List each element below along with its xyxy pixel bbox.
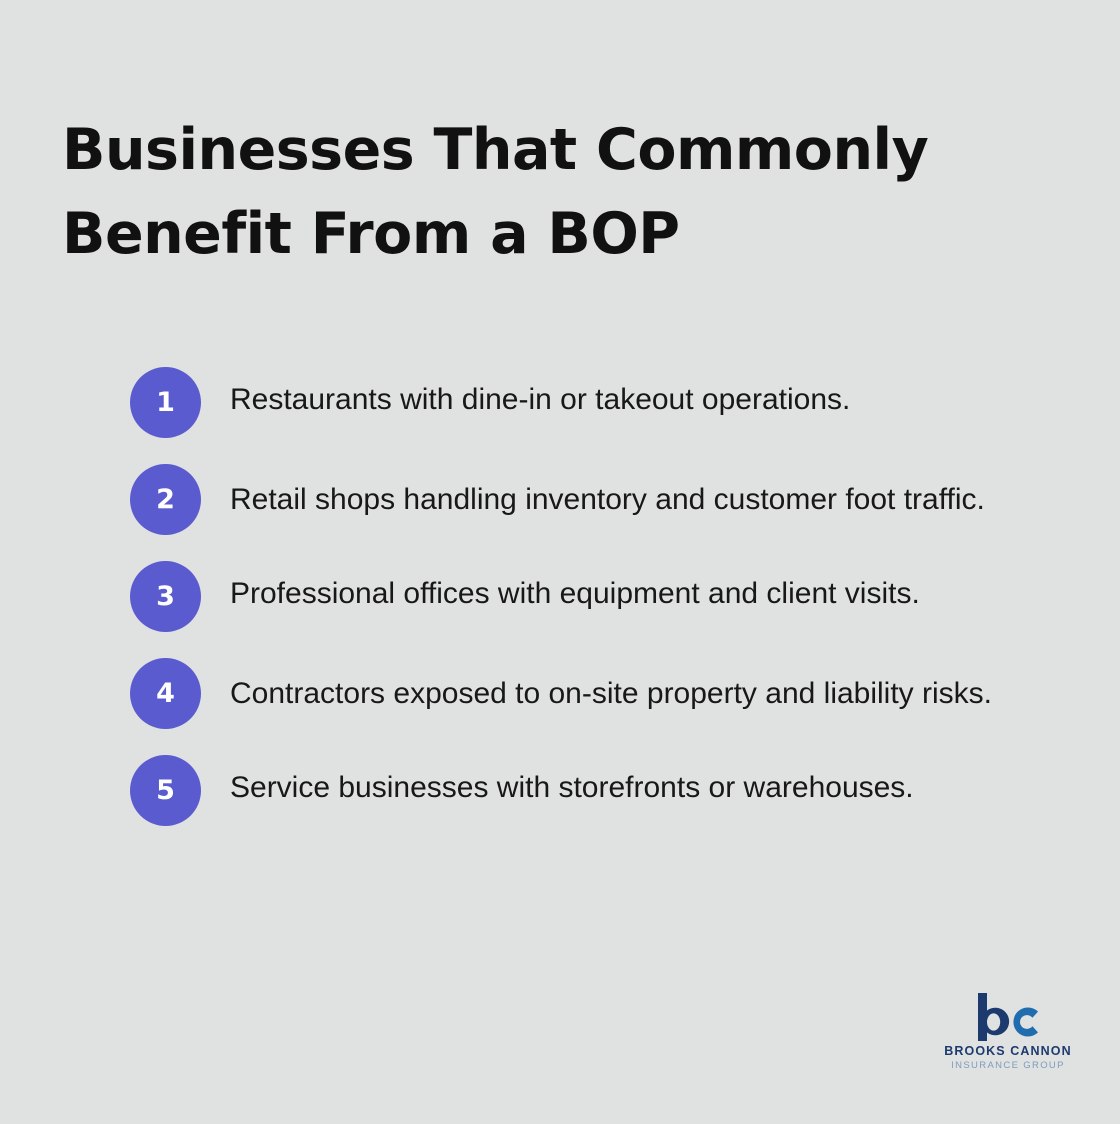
list-item: 1 Restaurants with dine-in or takeout op… bbox=[130, 367, 1020, 438]
page-title-block: Businesses That Commonly Benefit From a … bbox=[62, 108, 992, 276]
list-item-badge: 3 bbox=[130, 561, 201, 632]
brand-logo: BROOKS CANNON INSURANCE GROUP bbox=[944, 991, 1072, 1072]
numbered-list: 1 Restaurants with dine-in or takeout op… bbox=[130, 367, 1020, 826]
list-item-badge: 5 bbox=[130, 755, 201, 826]
brand-subtitle: INSURANCE GROUP bbox=[944, 1059, 1072, 1072]
list-item-badge: 2 bbox=[130, 464, 201, 535]
list-item: 4 Contractors exposed to on-site propert… bbox=[130, 658, 1020, 729]
page-title: Businesses That Commonly Benefit From a … bbox=[62, 108, 992, 276]
list-item-label: Retail shops handling inventory and cust… bbox=[230, 476, 1012, 523]
infographic-canvas: Businesses That Commonly Benefit From a … bbox=[0, 0, 1120, 1124]
list-item-label: Contractors exposed to on-site property … bbox=[230, 670, 1012, 717]
list-item: 2 Retail shops handling inventory and cu… bbox=[130, 464, 1020, 535]
list-item-badge: 4 bbox=[130, 658, 201, 729]
list-item: 5 Service businesses with storefronts or… bbox=[130, 755, 1020, 826]
list-item: 3 Professional offices with equipment an… bbox=[130, 561, 1020, 632]
list-item-label: Service businesses with storefronts or w… bbox=[230, 755, 1012, 811]
list-item-label: Professional offices with equipment and … bbox=[230, 561, 1012, 617]
list-item-badge: 1 bbox=[130, 367, 201, 438]
bc-monogram-icon bbox=[972, 991, 1044, 1041]
list-item-label: Restaurants with dine-in or takeout oper… bbox=[230, 367, 1012, 423]
brand-name: BROOKS CANNON bbox=[944, 1044, 1072, 1059]
